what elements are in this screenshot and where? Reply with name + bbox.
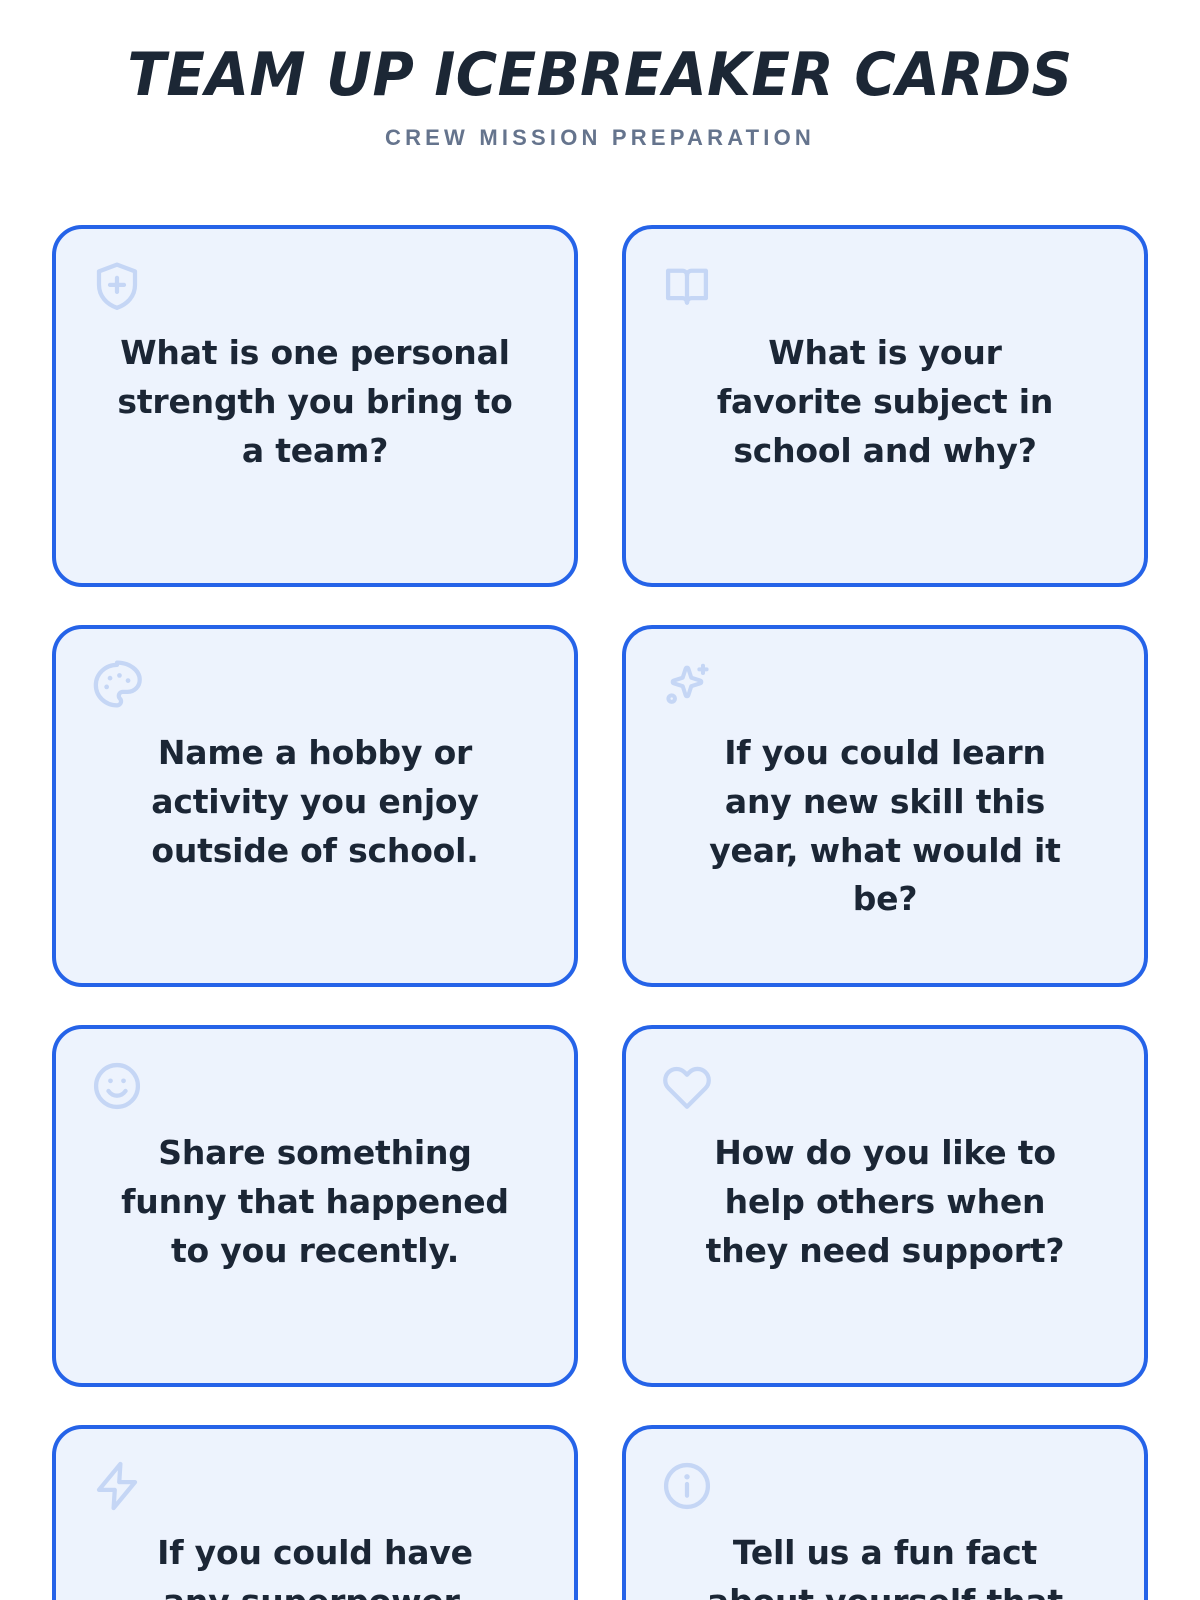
icebreaker-card[interactable]: Share something funny that happened to y… — [52, 1025, 578, 1387]
open-book-icon — [660, 259, 714, 313]
card-question: If you could have any superpower, — [135, 1529, 495, 1600]
heart-icon — [660, 1059, 714, 1113]
card-question: Tell us a fun fact about yourself that — [705, 1529, 1065, 1600]
icebreaker-card[interactable]: Tell us a fun fact about yourself that — [622, 1425, 1148, 1600]
card-question: Name a hobby or activity you enjoy outsi… — [130, 729, 500, 875]
icebreaker-cards-page: TEAM UP ICEBREAKER CARDS CREW MISSION PR… — [0, 0, 1200, 1600]
palette-icon — [90, 659, 144, 713]
card-question-wrap: Tell us a fun fact about yourself that — [660, 1459, 1110, 1600]
card-question-wrap: If you could learn any new skill this ye… — [660, 659, 1110, 953]
card-question: Share something funny that happened to y… — [105, 1129, 525, 1275]
card-question: How do you like to help others when they… — [690, 1129, 1080, 1275]
icebreaker-card[interactable]: If you could have any superpower, — [52, 1425, 578, 1600]
card-question-wrap: What is one personal strength you bring … — [90, 259, 540, 553]
page-header: TEAM UP ICEBREAKER CARDS CREW MISSION PR… — [0, 0, 1200, 151]
icebreaker-card[interactable]: Name a hobby or activity you enjoy outsi… — [52, 625, 578, 987]
card-question-wrap: What is your favorite subject in school … — [660, 259, 1110, 553]
icebreaker-card[interactable]: If you could learn any new skill this ye… — [622, 625, 1148, 987]
icebreaker-card[interactable]: What is one personal strength you bring … — [52, 225, 578, 587]
card-question-wrap: Name a hobby or activity you enjoy outsi… — [90, 659, 540, 953]
card-question-wrap: If you could have any superpower, — [90, 1459, 540, 1600]
card-question: If you could learn any new skill this ye… — [690, 729, 1080, 924]
card-question-wrap: Share something funny that happened to y… — [90, 1059, 540, 1353]
page-subtitle: CREW MISSION PREPARATION — [0, 125, 1200, 151]
sparkles-icon — [660, 659, 714, 713]
icebreaker-card[interactable]: What is your favorite subject in school … — [622, 225, 1148, 587]
card-question: What is your favorite subject in school … — [700, 329, 1070, 475]
lightning-bolt-icon — [90, 1459, 144, 1513]
icebreaker-card[interactable]: How do you like to help others when they… — [622, 1025, 1148, 1387]
smiley-face-icon — [90, 1059, 144, 1113]
card-grid: What is one personal strength you bring … — [0, 225, 1200, 1600]
card-question-wrap: How do you like to help others when they… — [660, 1059, 1110, 1353]
page-title: TEAM UP ICEBREAKER CARDS — [36, 44, 1164, 107]
card-question: What is one personal strength you bring … — [115, 329, 515, 475]
shield-plus-icon — [90, 259, 144, 313]
info-circle-icon — [660, 1459, 714, 1513]
